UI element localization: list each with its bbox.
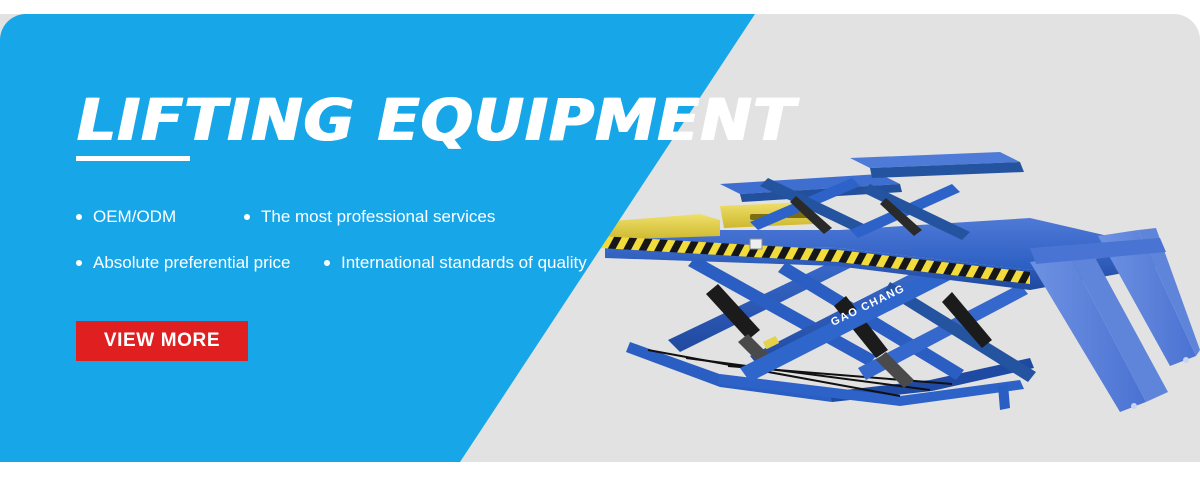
brand-arm (740, 262, 962, 382)
ramp-foot-a (1131, 403, 1137, 409)
banner-content: LIFTING EQUIPMENT OEM/ODM The most profe… (76, 14, 696, 462)
feature-label: International standards of quality (341, 253, 587, 273)
view-more-button[interactable]: VIEW MORE (76, 321, 248, 361)
control-box (750, 239, 762, 249)
feature-row: OEM/ODM The most professional services (76, 194, 616, 240)
list-item: International standards of quality (324, 253, 587, 273)
page-title: LIFTING EQUIPMENT (76, 89, 795, 151)
bullet-icon (76, 260, 82, 266)
promo-banner: GAO CHANG (0, 0, 1200, 480)
feature-list: OEM/ODM The most professional services A… (76, 194, 616, 286)
support-leg (998, 384, 1010, 410)
bullet-icon (324, 260, 330, 266)
title-divider (76, 156, 190, 161)
bullet-icon (76, 214, 82, 220)
ramp-foot-b (1183, 357, 1189, 363)
feature-row: Absolute preferential price Internationa… (76, 240, 616, 286)
list-item: Absolute preferential price (76, 253, 324, 273)
feature-label: The most professional services (261, 207, 495, 227)
feature-label: Absolute preferential price (93, 253, 291, 273)
list-item: The most professional services (244, 207, 495, 227)
list-item: OEM/ODM (76, 207, 244, 227)
feature-label: OEM/ODM (93, 207, 176, 227)
bullet-icon (244, 214, 250, 220)
